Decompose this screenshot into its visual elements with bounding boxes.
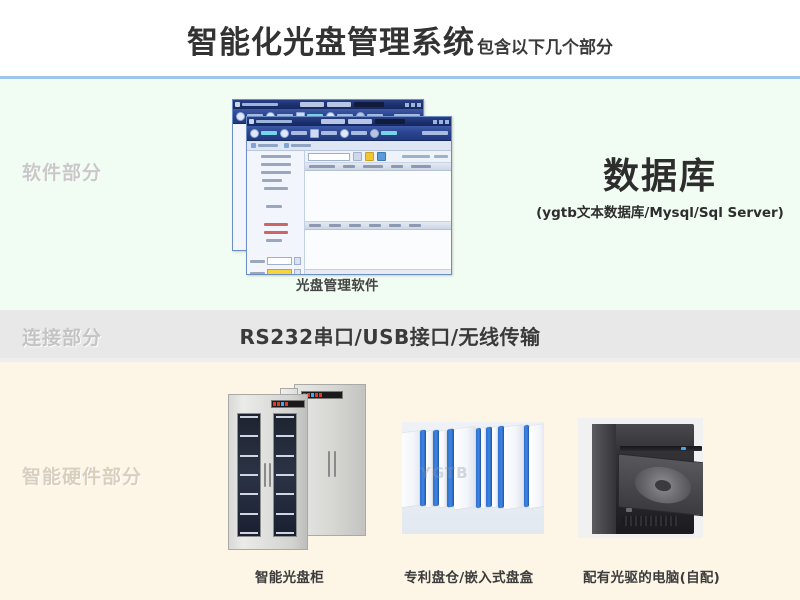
window-controls[interactable] [433, 120, 449, 124]
cabinet-shelf [276, 493, 294, 495]
cabinet-shelf [276, 513, 294, 515]
cabinet-shelf [276, 455, 294, 457]
window-tab[interactable] [348, 119, 372, 124]
column-header [349, 224, 361, 227]
caption-tray: 专利盘仓/嵌入式盘盒 [404, 566, 533, 586]
power-button[interactable] [626, 508, 632, 512]
text-input-active[interactable] [267, 269, 292, 275]
toolbar-button-export[interactable] [280, 129, 307, 138]
database-block: 数据库 (ygtb文本数据库/Mysql/Sql Server) [520, 155, 800, 221]
column-header [409, 224, 421, 227]
image-watermark: YGTB [420, 464, 469, 482]
window-sidebar[interactable] [247, 151, 305, 275]
tree-gap [250, 195, 301, 205]
column-header [389, 224, 401, 227]
window-tab-bar[interactable] [247, 141, 451, 151]
table-body-bottom[interactable] [305, 230, 451, 269]
toolbar-button-import[interactable] [250, 129, 277, 138]
form-field-row-highlighted[interactable] [250, 269, 301, 275]
photo-computer-with-drive [578, 418, 703, 538]
tab-label [291, 144, 311, 147]
connection-description-text: RS232串口/USB接口/无线传输 [239, 321, 540, 350]
cabinet-shelf [240, 416, 258, 418]
content-tab-second[interactable] [284, 143, 311, 148]
app-icon [235, 102, 240, 107]
window-tab[interactable] [327, 102, 351, 107]
toolbar-label [291, 131, 307, 135]
field-label [250, 260, 265, 263]
window-controls[interactable] [405, 103, 421, 107]
column-header [411, 165, 431, 168]
cabinet-shelf [240, 435, 258, 437]
window-titlebar [233, 100, 423, 109]
tree-item[interactable] [262, 179, 282, 182]
pc-drive-slot [620, 446, 702, 451]
window-toolbar[interactable] [247, 126, 451, 141]
content-toolbar[interactable] [305, 151, 451, 163]
text-input[interactable] [267, 257, 292, 265]
led-segment [285, 402, 288, 406]
cabinet-handle[interactable] [334, 451, 336, 477]
column-header [369, 224, 381, 227]
column-header [309, 224, 321, 227]
disc-tray [529, 424, 544, 509]
tree-item[interactable] [261, 171, 291, 174]
cabinet-shelf [276, 532, 294, 534]
cabinet-shelf [240, 513, 258, 515]
toolbar-button-settings[interactable] [340, 129, 367, 138]
column-header [309, 165, 335, 168]
close-icon[interactable] [417, 103, 421, 107]
field-browse-button[interactable] [294, 257, 301, 265]
database-title: 数据库 [520, 155, 800, 199]
toolbar-button-disc[interactable] [310, 129, 337, 138]
window-tab[interactable] [321, 119, 345, 124]
column-header [343, 165, 355, 168]
disc-tray [504, 425, 524, 510]
photo-disc-cabinet [218, 378, 370, 553]
caption-cabinet: 智能光盘柜 [255, 566, 324, 586]
pc-vent-grille [622, 516, 678, 526]
dropdown-icon[interactable] [353, 152, 362, 161]
cabinet-left-unit [228, 394, 308, 550]
status-text [402, 155, 430, 158]
window-titlebar [247, 117, 451, 126]
tree-item[interactable] [261, 163, 291, 166]
led-segment [315, 393, 318, 397]
column-header [363, 165, 383, 168]
disc-icon [310, 129, 319, 138]
cabinet-shelf [276, 435, 294, 437]
folder-icon[interactable] [377, 152, 386, 161]
tree-item-hint [266, 205, 282, 208]
toolbar-label [261, 131, 277, 135]
software-window-front[interactable] [246, 116, 452, 275]
window-content [305, 151, 451, 275]
gear-icon [340, 129, 349, 138]
tree-gap [250, 247, 301, 257]
cabinet-handle[interactable] [269, 463, 271, 487]
window-tab-strip [294, 119, 431, 124]
minimize-icon[interactable] [405, 103, 409, 107]
led-segment [281, 402, 284, 406]
cabinet-shelf [276, 416, 294, 418]
app-icon [249, 119, 254, 124]
tab-label [258, 144, 278, 147]
tab-icon [284, 143, 289, 148]
form-field-row[interactable] [250, 257, 301, 265]
toolbar-label [351, 131, 367, 135]
tree-gap [250, 213, 301, 223]
photo-disc-trays: YGTB [402, 422, 544, 534]
minimize-icon[interactable] [433, 120, 437, 124]
page-title: 智能化光盘管理系统 包含以下几个部分 [187, 17, 613, 62]
cabinet-glass-door-left[interactable] [237, 413, 261, 537]
disc-spindle [635, 464, 691, 506]
window-title-text [256, 120, 292, 123]
search-input[interactable] [308, 153, 350, 161]
connection-description: RS232串口/USB接口/无线传输 [0, 321, 800, 350]
content-toolbar-right [402, 155, 448, 158]
caption-software: 光盘管理软件 [296, 274, 379, 294]
cabinet-led-display [271, 400, 305, 408]
status-count [434, 155, 448, 158]
window-body [247, 151, 451, 275]
toolbar-label [381, 131, 397, 135]
window-tab-active[interactable] [354, 102, 384, 107]
import-icon [236, 112, 245, 121]
led-segment [319, 393, 322, 397]
cabinet-shelf [240, 474, 258, 476]
toolbar-label-help[interactable] [422, 131, 448, 135]
cabinet-glass-door-right[interactable] [273, 413, 297, 537]
column-header [329, 224, 341, 227]
cabinet-shelf [240, 455, 258, 457]
filter-icon[interactable] [365, 152, 374, 161]
pc-side-panel [592, 424, 616, 534]
maximize-icon[interactable] [439, 120, 443, 124]
led-segment [273, 402, 276, 406]
tree-item-alert[interactable] [264, 231, 288, 234]
section-label-hardware: 智能硬件部分 [22, 462, 142, 489]
export-icon [280, 129, 289, 138]
pc-tower [592, 424, 694, 534]
toolbar-label [321, 131, 337, 135]
tree-item[interactable] [266, 239, 282, 242]
cabinet-shelf [240, 532, 258, 534]
poster-root: 智能化光盘管理系统 包含以下几个部分 软件部分 [0, 0, 800, 600]
power-led-icon [681, 447, 686, 450]
led-segment [277, 402, 280, 406]
content-tab-first[interactable] [251, 143, 278, 148]
table-body-top[interactable] [305, 171, 451, 222]
table-header-bottom [305, 222, 451, 230]
caption-computer: 配有光驱的电脑(自配) [583, 566, 720, 586]
window-title-text [242, 103, 278, 106]
import-icon [250, 129, 259, 138]
close-icon[interactable] [445, 120, 449, 124]
cabinet-shelf [276, 474, 294, 476]
cabinet-handle[interactable] [264, 463, 266, 487]
tree-item-alert[interactable] [264, 223, 288, 226]
section-label-software: 软件部分 [22, 158, 102, 185]
page-title-sub: 包含以下几个部分 [477, 33, 613, 58]
cabinet-shelf [240, 493, 258, 495]
led-segment [311, 393, 314, 397]
poster-header: 智能化光盘管理系统 包含以下几个部分 [0, 0, 800, 78]
field-label [250, 272, 265, 275]
window-tab-strip [280, 102, 403, 107]
window-statusbar [305, 269, 451, 275]
column-header [391, 165, 403, 168]
tree-item[interactable] [261, 155, 291, 158]
page-title-main: 智能化光盘管理系统 [187, 17, 475, 62]
refresh-icon [370, 129, 379, 138]
table-header-top [305, 163, 451, 171]
window-tab[interactable] [300, 102, 324, 107]
maximize-icon[interactable] [411, 103, 415, 107]
tree-item[interactable] [264, 187, 288, 190]
window-tab-active[interactable] [375, 119, 405, 124]
tab-icon [251, 143, 256, 148]
cabinet-handle[interactable] [328, 451, 330, 477]
spindle-hub [655, 479, 671, 492]
toolbar-button-refresh[interactable] [370, 129, 397, 138]
field-browse-button[interactable] [294, 269, 301, 275]
database-subtitle: (ygtb文本数据库/Mysql/Sql Server) [520, 201, 800, 221]
